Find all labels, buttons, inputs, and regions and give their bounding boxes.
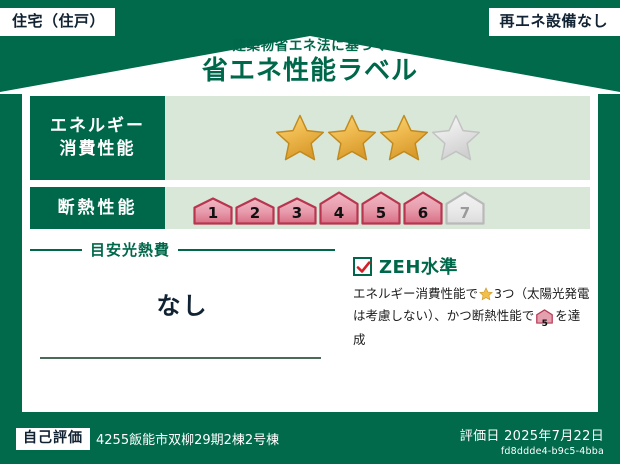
energy-performance-label: 住宅（住戸） 再エネ設備なし 建築物省エネ法に基づく 省エネ性能ラベル エネルギ… <box>0 0 620 464</box>
house-level-list: 1234567 <box>193 191 485 225</box>
badge-dwelling-type: 住宅（住戸） <box>0 8 115 36</box>
house-icon: 5 <box>536 309 553 329</box>
energy-performance-row: エネルギー 消費性能 <box>30 96 590 180</box>
insulation-performance-label: 断熱性能 <box>30 187 165 229</box>
zeh-panel: ZEH水準 エネルギー消費性能で 3つ（太陽光発電 は考慮しない）、かつ断熱性能… <box>335 239 590 349</box>
star-icon <box>479 287 493 306</box>
house-icon-filled: 1 <box>193 197 233 225</box>
house-level-number: 2 <box>235 206 275 221</box>
evaluation-date: 評価日 2025年7月22日 <box>460 425 604 444</box>
star-icon-empty <box>430 113 482 163</box>
roof-shape <box>0 36 620 94</box>
star-list <box>274 113 482 163</box>
label-content: エネルギー 消費性能 断熱性能 1234567 目安光熱費 <box>30 96 590 349</box>
label-footer: 自己評価 4255飯能市双柳29期2棟2号棟 評価日 2025年7月22日 fd… <box>0 414 620 464</box>
house-level-number: 3 <box>277 206 317 221</box>
star-icon-filled <box>326 113 378 163</box>
insulation-performance-row: 断熱性能 1234567 <box>30 187 590 229</box>
check-icon <box>353 257 372 276</box>
utility-cost-heading: 目安光熱費 <box>30 239 335 260</box>
badge-renewable-energy: 再エネ設備なし <box>489 8 620 36</box>
utility-cost-value: なし <box>30 286 335 321</box>
zeh-description: エネルギー消費性能で 3つ（太陽光発電 は考慮しない）、かつ断熱性能で 5を達成 <box>353 284 590 349</box>
energy-performance-label: エネルギー 消費性能 <box>30 96 165 180</box>
energy-label-line1: エネルギー <box>50 115 145 138</box>
zeh-title-row: ZEH水準 <box>353 253 590 279</box>
house-icon-filled: 3 <box>277 197 317 225</box>
zeh-desc-part2: は考慮しない）、かつ断熱性能で <box>353 308 534 323</box>
house-level-number: 6 <box>403 206 443 221</box>
house-level-number: 1 <box>193 206 233 221</box>
zeh-desc-star-text: 3つ（太陽光発電 <box>494 286 589 301</box>
heading-rule-left <box>30 249 82 251</box>
lower-panels: 目安光熱費 なし ZEH水準 エネルギー消費性能で <box>30 239 590 349</box>
house-icon-filled: 6 <box>403 191 443 225</box>
utility-cost-underline <box>40 357 321 359</box>
house-level-number: 5 <box>361 206 401 221</box>
energy-label-line2: 消費性能 <box>60 138 136 161</box>
utility-cost-heading-text: 目安光熱費 <box>90 239 170 260</box>
evaluation-hash: fd8ddde4-b9c5-4bba <box>460 446 604 457</box>
house-level-number: 4 <box>319 206 359 221</box>
heading-rule-right <box>178 249 335 251</box>
building-name: 4255飯能市双柳29期2棟2号棟 <box>96 429 279 448</box>
zeh-desc-part1: エネルギー消費性能で <box>353 286 478 301</box>
zeh-title-text: ZEH水準 <box>379 253 458 279</box>
insulation-label-text: 断熱性能 <box>58 197 138 220</box>
star-icon-filled <box>274 113 326 163</box>
energy-star-rating <box>165 96 590 180</box>
estimated-utility-cost-panel: 目安光熱費 なし <box>30 239 335 349</box>
house-icon-filled: 2 <box>235 197 275 225</box>
house-icon-filled: 4 <box>319 191 359 225</box>
self-evaluation-badge: 自己評価 <box>16 428 90 450</box>
house-icon-empty: 7 <box>445 191 485 225</box>
insulation-scale: 1234567 <box>165 187 590 229</box>
house-level-number: 7 <box>445 206 485 221</box>
star-icon-filled <box>378 113 430 163</box>
house-icon-filled: 5 <box>361 191 401 225</box>
footer-left-group: 自己評価 4255飯能市双柳29期2棟2号棟 <box>16 428 279 450</box>
house-icon-number: 5 <box>536 320 553 329</box>
footer-right-group: 評価日 2025年7月22日 fd8ddde4-b9c5-4bba <box>460 425 604 457</box>
